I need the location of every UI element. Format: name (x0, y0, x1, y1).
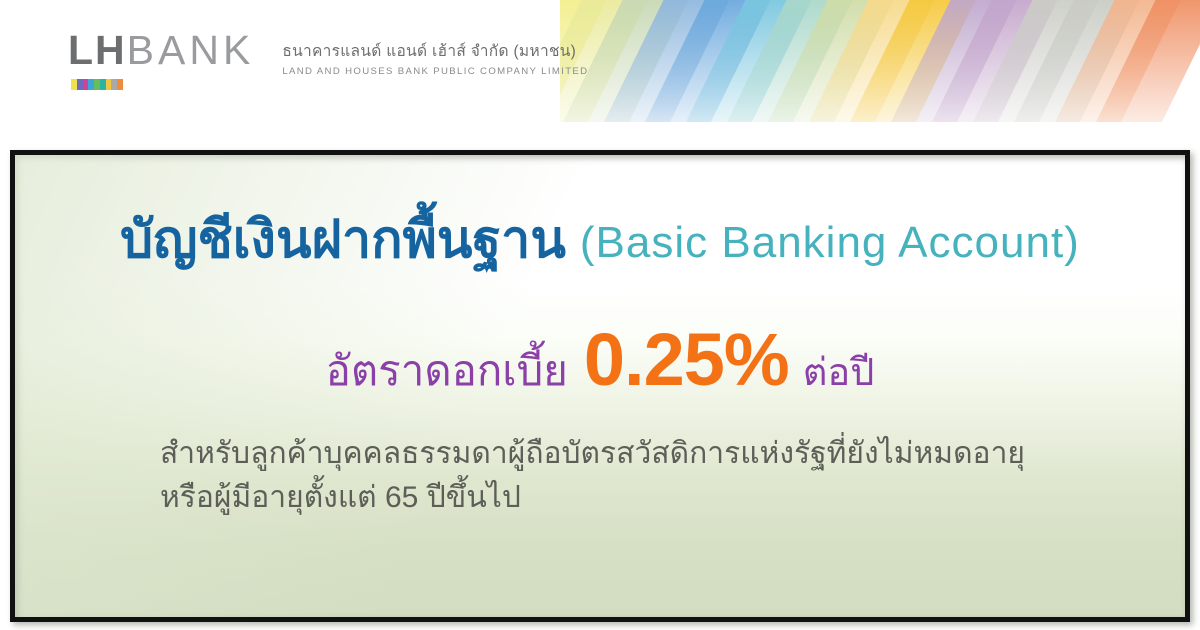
logo-wordmark-secondary: BANK (127, 27, 255, 73)
interest-rate-label: อัตราดอกเบี้ย (326, 347, 568, 394)
logo-legal-name-thai: ธนาคารแลนด์ แอนด์ เฮ้าส์ จำกัด (มหาชน) (282, 38, 588, 63)
interest-rate-line: อัตราดอกเบี้ย0.25%ต่อปี (15, 317, 1185, 404)
product-headline: บัญชีเงินฝากพื้นฐาน(Basic Banking Accoun… (15, 197, 1185, 280)
bank-logo: LHBANK ธนาคารแลนด์ แอนด์ เฮ้าส์ จำกัด (ม… (68, 30, 588, 90)
logo-swatch-9 (117, 79, 123, 90)
logo-legal-name-english: LAND AND HOUSES BANK PUBLIC COMPANY LIMI… (282, 66, 588, 77)
product-title-thai: บัญชีเงินฝากพื้นฐาน (120, 211, 566, 269)
logo-color-swatches (71, 79, 123, 90)
promo-panel: บัญชีเงินฝากพื้นฐาน(Basic Banking Accoun… (15, 155, 1185, 617)
diagonal-stripe-decoration (560, 0, 1200, 122)
logo-wordmark-wrap: LHBANK (68, 30, 254, 90)
interest-rate-period: ต่อปี (803, 352, 875, 394)
interest-rate-value: 0.25% (584, 318, 789, 401)
product-title-english: (Basic Banking Account) (580, 218, 1080, 267)
eligibility-text: สำหรับลูกค้าบุคคลธรรมดาผู้ถือบัตรสวัสดิก… (160, 432, 1025, 519)
logo-wordmark-primary: LH (68, 27, 127, 73)
eligibility-line-1: สำหรับลูกค้าบุคคลธรรมดาผู้ถือบัตรสวัสดิก… (160, 432, 1025, 476)
promo-panel-frame: บัญชีเงินฝากพื้นฐาน(Basic Banking Accoun… (10, 150, 1190, 622)
promotional-banner: LHBANK ธนาคารแลนด์ แอนด์ เฮ้าส์ จำกัด (ม… (0, 0, 1200, 630)
logo-wordmark: LHBANK (68, 30, 254, 71)
promo-panel-content: บัญชีเงินฝากพื้นฐาน(Basic Banking Accoun… (15, 155, 1185, 617)
logo-legal-name-block: ธนาคารแลนด์ แอนด์ เฮ้าส์ จำกัด (มหาชน) L… (282, 30, 588, 77)
eligibility-line-2: หรือผู้มีอายุตั้งแต่ 65 ปีขึ้นไป (160, 476, 1025, 520)
